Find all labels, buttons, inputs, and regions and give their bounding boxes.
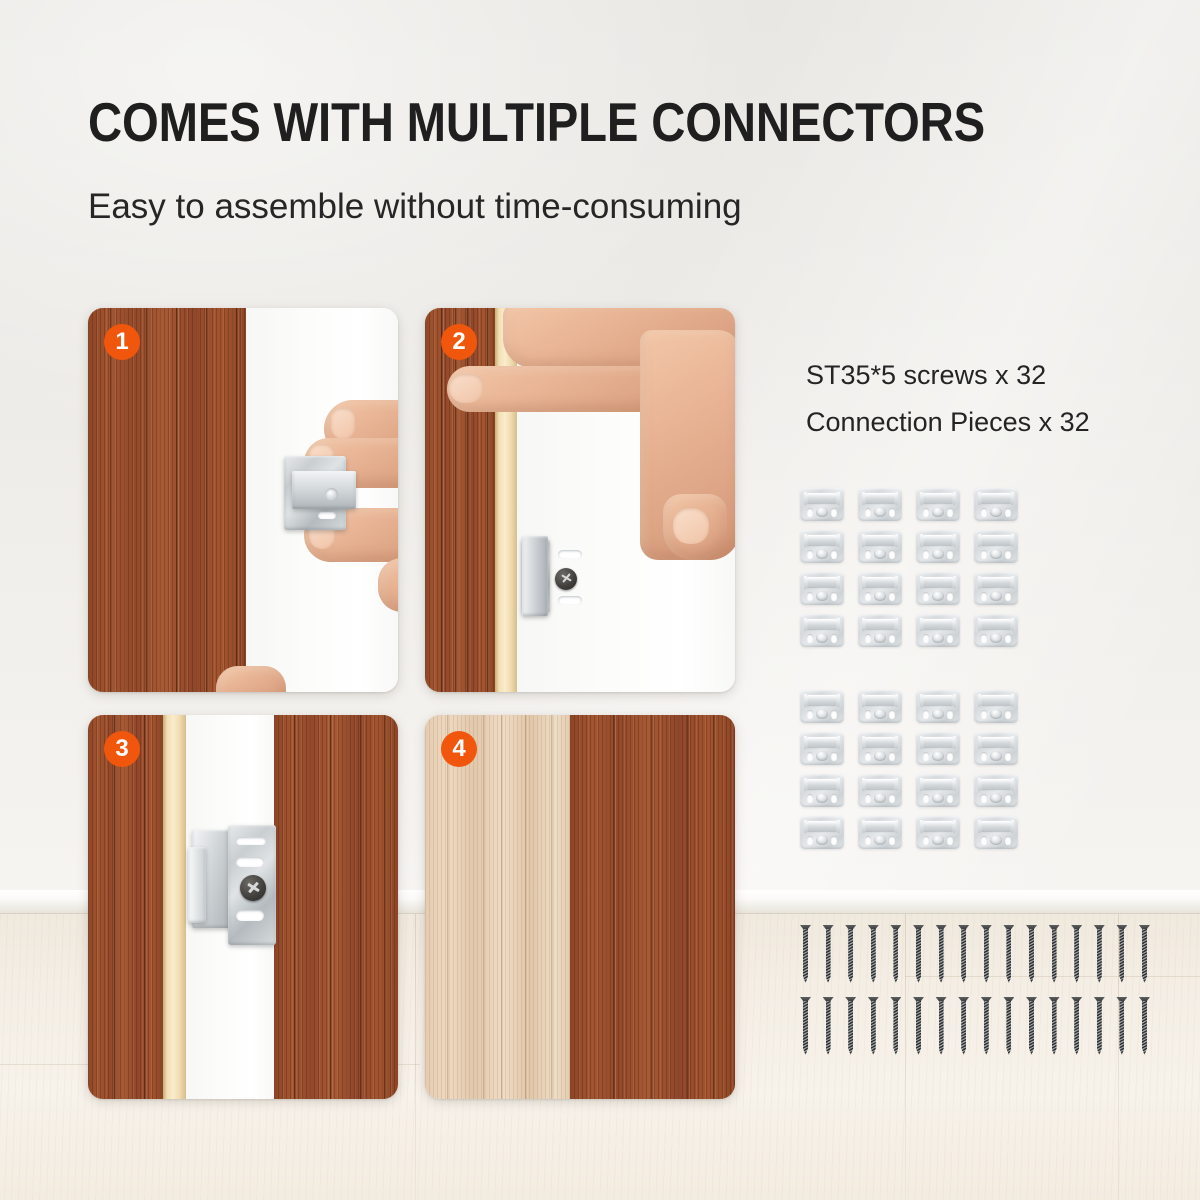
screw bbox=[870, 925, 877, 983]
screw bbox=[802, 997, 809, 1055]
step-panel-2 bbox=[425, 308, 735, 692]
connector-piece bbox=[858, 614, 902, 647]
connector-piece bbox=[974, 690, 1018, 723]
connector-piece bbox=[800, 732, 844, 765]
screw bbox=[960, 997, 967, 1055]
screw bbox=[802, 925, 809, 983]
screw bbox=[1141, 997, 1148, 1055]
connector-grid-group-b bbox=[800, 690, 1040, 860]
screw bbox=[983, 997, 990, 1055]
screw bbox=[847, 925, 854, 983]
connector-piece bbox=[858, 774, 902, 807]
connector-piece bbox=[916, 488, 960, 521]
screw bbox=[938, 925, 945, 983]
step-panel-3 bbox=[88, 715, 398, 1099]
connector-piece bbox=[974, 774, 1018, 807]
connector-piece bbox=[858, 732, 902, 765]
connector-piece bbox=[800, 530, 844, 563]
screw bbox=[892, 925, 899, 983]
step-badge-1-label: 1 bbox=[115, 328, 128, 356]
connector-piece bbox=[916, 614, 960, 647]
screw bbox=[915, 997, 922, 1055]
connector-piece bbox=[800, 774, 844, 807]
step-badge-2-label: 2 bbox=[452, 328, 465, 356]
step-badge-2: 2 bbox=[441, 324, 477, 360]
connector-piece bbox=[800, 816, 844, 849]
step-badge-3: 3 bbox=[104, 731, 140, 767]
connector-piece bbox=[800, 488, 844, 521]
screw bbox=[1118, 997, 1125, 1055]
connector-piece bbox=[800, 690, 844, 723]
screw bbox=[1051, 997, 1058, 1055]
connector-piece bbox=[916, 732, 960, 765]
screw bbox=[1073, 997, 1080, 1055]
page-title: COMES WITH MULTIPLE CONNECTORS bbox=[88, 93, 985, 151]
screw-grid bbox=[802, 925, 1162, 1035]
screw bbox=[1051, 925, 1058, 983]
page-subtitle: Easy to assemble without time-consuming bbox=[88, 185, 742, 229]
screws-label: ST35*5 screws x 32 bbox=[806, 360, 1046, 391]
step-panel-1 bbox=[88, 308, 398, 692]
screw bbox=[1005, 997, 1012, 1055]
step-badge-3-label: 3 bbox=[115, 735, 128, 763]
screw bbox=[847, 997, 854, 1055]
screw bbox=[825, 997, 832, 1055]
connector-piece bbox=[916, 530, 960, 563]
screw bbox=[1005, 925, 1012, 983]
connector-piece bbox=[974, 816, 1018, 849]
connector-piece bbox=[916, 774, 960, 807]
screw bbox=[1096, 997, 1103, 1055]
screw bbox=[1141, 925, 1148, 983]
connector-piece bbox=[974, 572, 1018, 605]
screw bbox=[825, 925, 832, 983]
connector-piece bbox=[916, 572, 960, 605]
step-badge-1: 1 bbox=[104, 324, 140, 360]
connector-piece bbox=[974, 614, 1018, 647]
connector-piece bbox=[858, 488, 902, 521]
screw bbox=[1118, 925, 1125, 983]
step-panel-4 bbox=[425, 715, 735, 1099]
connector-piece bbox=[916, 816, 960, 849]
connector-piece bbox=[974, 732, 1018, 765]
connectors-label: Connection Pieces x 32 bbox=[806, 407, 1090, 438]
connector-piece bbox=[916, 690, 960, 723]
connector-piece bbox=[858, 816, 902, 849]
screw bbox=[1028, 925, 1035, 983]
connector-piece bbox=[858, 690, 902, 723]
connector-piece bbox=[800, 572, 844, 605]
screw bbox=[870, 997, 877, 1055]
step-badge-4-label: 4 bbox=[452, 735, 465, 763]
screw bbox=[915, 925, 922, 983]
connector-piece bbox=[858, 530, 902, 563]
connector-piece bbox=[800, 614, 844, 647]
screw bbox=[960, 925, 967, 983]
step-badge-4: 4 bbox=[441, 731, 477, 767]
screw bbox=[1028, 997, 1035, 1055]
connector-grid-group-a bbox=[800, 488, 1040, 658]
connector-piece bbox=[858, 572, 902, 605]
connector-piece bbox=[974, 488, 1018, 521]
screw bbox=[1073, 925, 1080, 983]
screw bbox=[1096, 925, 1103, 983]
screw bbox=[938, 997, 945, 1055]
connector-piece bbox=[974, 530, 1018, 563]
screw bbox=[892, 997, 899, 1055]
screw bbox=[983, 925, 990, 983]
